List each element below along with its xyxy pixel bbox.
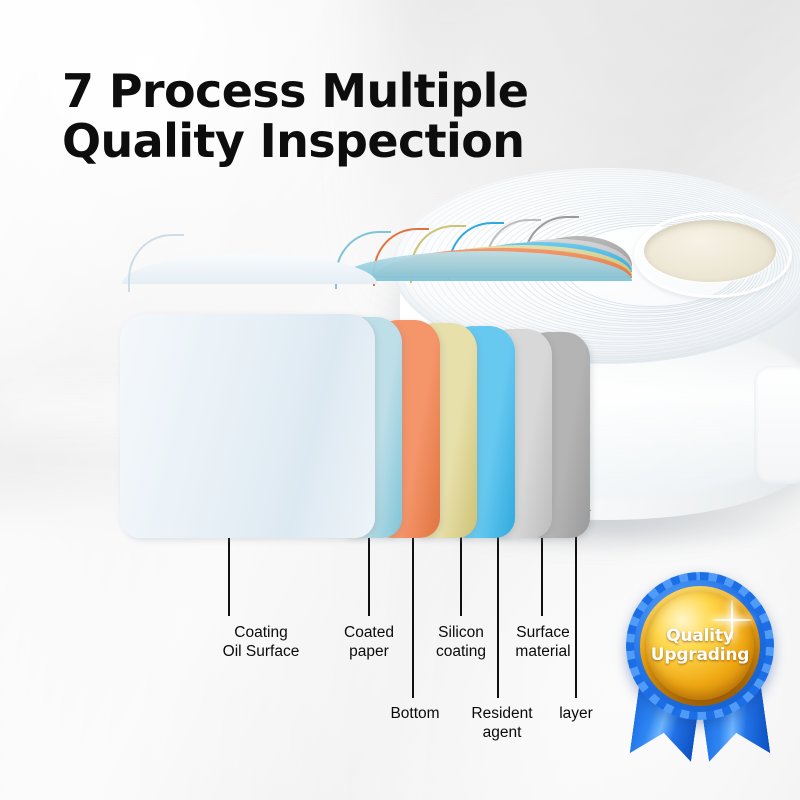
callout-layer: layer [552,705,600,724]
rosette-pleats: Quality Upgrading [626,572,774,720]
quality-upgrading-badge: Quality Upgrading [612,566,788,766]
callout-coated-paper: Coated paper [330,624,408,661]
headline-title: 7 Process Multiple Quality Inspection [62,66,602,166]
roll-edge-notch [754,366,800,484]
layer-curl-coating-oil-surface [128,234,184,292]
roll-core-hole [644,220,776,282]
layer-coating-oil-surface [120,314,375,538]
callout-surface-material: Surface material [504,624,582,661]
callout-silicon-coating: Silicon coating [424,624,498,661]
material-layer-stack [120,268,640,538]
infographic-canvas: 7 Process Multiple Quality Inspection Co… [0,0,800,800]
callout-bottom: Bottom [382,705,448,724]
callout-resident-agent: Resident agent [462,705,542,742]
badge-label: Quality Upgrading [651,627,749,665]
medal-face: Quality Upgrading [646,592,754,700]
callout-coating-oil-surface: Coating Oil Surface [186,624,336,661]
